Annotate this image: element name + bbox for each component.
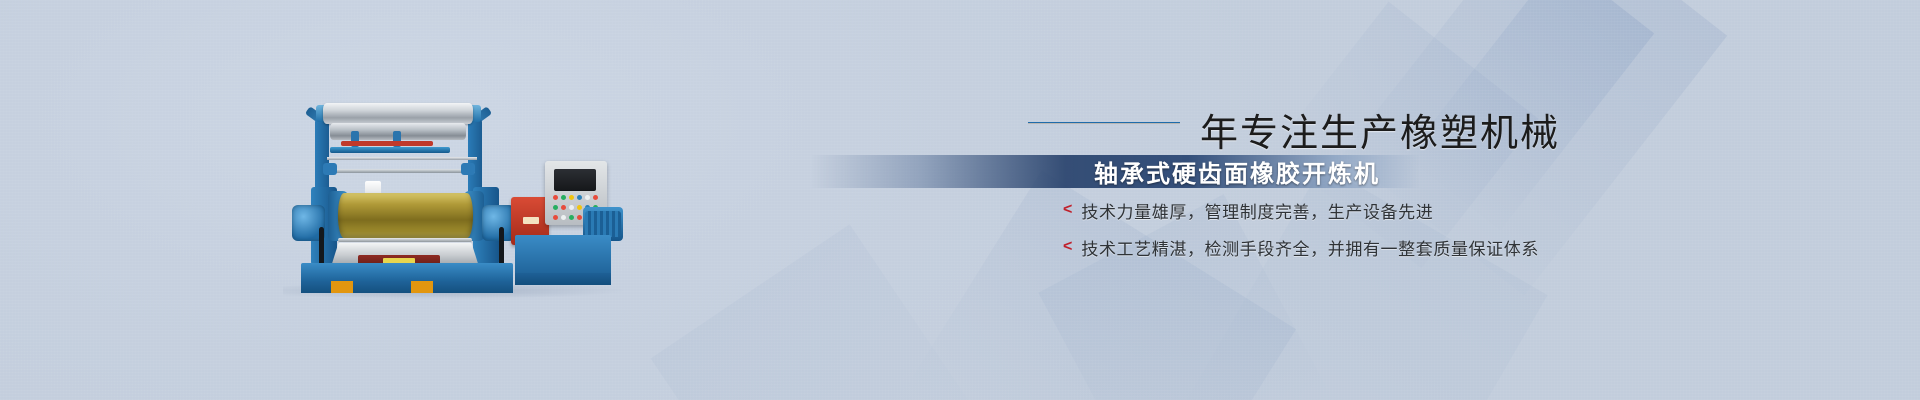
machine-indicator-white-3 (561, 215, 566, 220)
machine-indicator-red-2 (593, 195, 598, 200)
machine-control-panel-screen (554, 169, 596, 191)
machine-indicator-red-5 (577, 215, 582, 220)
machine-indicator-red-4 (553, 215, 558, 220)
feature-list-item: < 技术工艺精湛，检测手段齐全，并拥有一整套质量保证体系 (1063, 235, 1539, 260)
machine-indicator-blue (577, 195, 582, 200)
machine-indicator-green (561, 195, 566, 200)
promo-banner: 年专注生产橡塑机械 轴承式硬齿面橡胶开炼机 < 技术力量雄厚，管理制度完善，生产… (0, 0, 1920, 400)
machine-indicator-green-2 (553, 205, 558, 210)
machine-red-box-label (523, 217, 539, 224)
feature-text: 技术力量雄厚，管理制度完善，生产设备先进 (1081, 198, 1433, 223)
banner-headline: 年专注生产橡塑机械 (0, 108, 1560, 160)
machine-indicator-white (585, 195, 590, 200)
machine-indicator-yellow (569, 195, 574, 200)
banner-subtitle: 轴承式硬齿面橡胶开炼机 (810, 155, 1380, 188)
machine-rod-knob-right (461, 163, 475, 175)
machine-foot-left (331, 281, 353, 293)
background-shape-bottom-1 (651, 224, 990, 400)
machine-tie-rod-lower (329, 169, 475, 173)
machine-main-roller (338, 193, 473, 238)
machine-indicator-red-3 (561, 205, 566, 210)
machine-indicator-red (553, 195, 558, 200)
machine-motor-fins (585, 211, 621, 237)
feature-list: < 技术力量雄厚，管理制度完善，生产设备先进 < 技术工艺精湛，检测手段齐全，并… (1063, 198, 1539, 272)
machine-tray-rod (338, 238, 472, 242)
machine-rod-knob-left (323, 163, 337, 175)
machine-indicator-yellow-2 (577, 205, 582, 210)
feature-list-item: < 技术力量雄厚，管理制度完善，生产设备先进 (1063, 198, 1539, 223)
machine-right-base-shadow (515, 273, 611, 285)
machine-indicator-green-4 (569, 215, 574, 220)
chevron-left-icon: < (1063, 202, 1072, 218)
machine-panel-indicator-row-1 (553, 195, 598, 200)
machine-foot-right (411, 281, 433, 293)
machine-indicator-white-2 (569, 205, 574, 210)
chevron-left-icon: < (1063, 239, 1072, 255)
feature-text: 技术工艺精湛，检测手段齐全，并拥有一整套质量保证体系 (1081, 235, 1539, 260)
machine-base-plinth (301, 263, 513, 283)
